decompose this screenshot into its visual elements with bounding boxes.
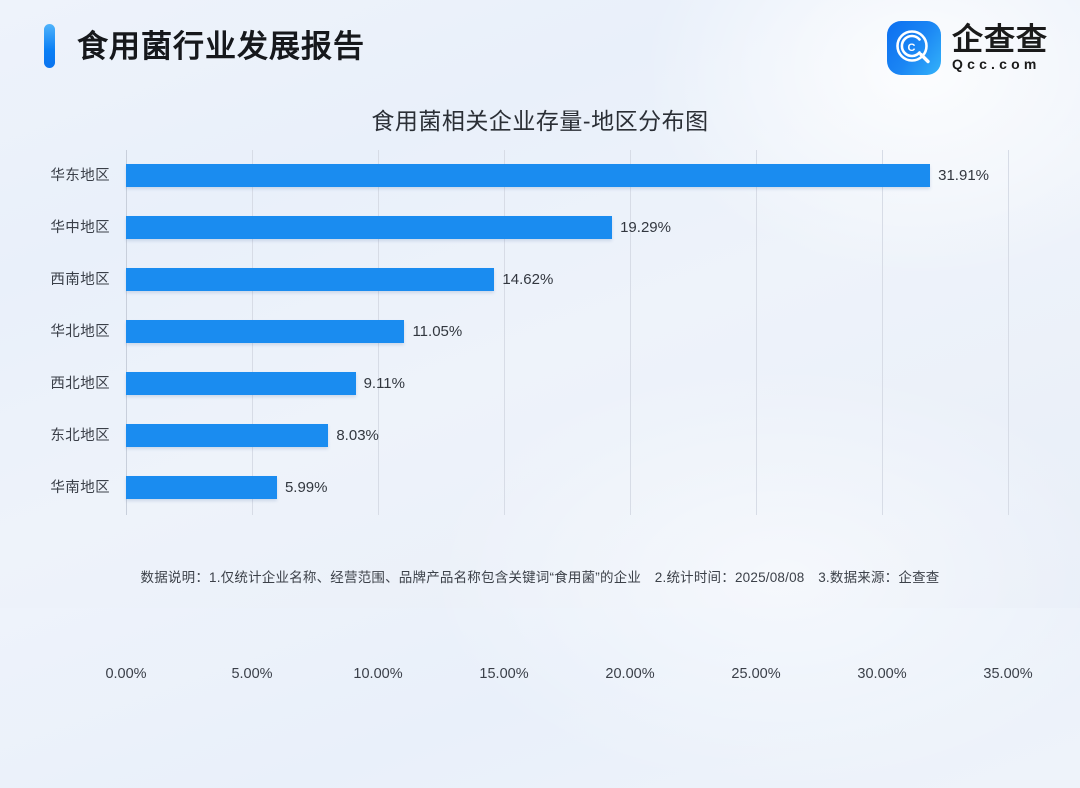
x-axis-tick-label: 35.00%: [983, 666, 1032, 682]
logo-chinese-name: 企查查: [952, 24, 1048, 57]
bar-value-label: 14.62%: [502, 268, 553, 291]
bar-category-label: 华中地区: [0, 215, 110, 241]
bar-category-label: 华东地区: [0, 163, 110, 189]
bar-value-label: 19.29%: [620, 216, 671, 239]
x-axis-tick-label: 30.00%: [857, 666, 906, 682]
bar-category-label: 西北地区: [0, 371, 110, 397]
x-axis-tick-label: 5.00%: [231, 666, 272, 682]
x-axis-tick-label: 10.00%: [353, 666, 402, 682]
brand-logo[interactable]: C 企查查 Qcc.com: [887, 21, 1048, 75]
report-title-block: 食用菌行业发展报告: [44, 24, 365, 68]
bar[interactable]: [126, 268, 494, 291]
chart-bar-row[interactable]: 东北地区8.03%: [0, 423, 1080, 449]
chart-bar-row[interactable]: 华北地区11.05%: [0, 319, 1080, 345]
bar-value-label: 8.03%: [336, 424, 379, 447]
footer-note: 数据说明：1.仅统计企业名称、经营范围、品牌产品名称包含关键词“食用菌”的企业 …: [0, 566, 1080, 586]
bar-value-label: 9.11%: [364, 372, 405, 395]
bar-value-label: 11.05%: [412, 320, 462, 343]
chart-bar-row[interactable]: 华东地区31.91%: [0, 163, 1080, 189]
x-axis: 0.00%5.00%10.00%15.00%20.00%25.00%30.00%…: [0, 666, 1080, 690]
bar-category-label: 华北地区: [0, 319, 110, 345]
logo-text-block: 企查查 Qcc.com: [952, 24, 1048, 73]
bar-category-label: 东北地区: [0, 423, 110, 449]
bar[interactable]: [126, 216, 612, 239]
chart-bar-row[interactable]: 西北地区9.11%: [0, 371, 1080, 397]
bar[interactable]: [126, 164, 930, 187]
bar-chart: 华东地区31.91%华中地区19.29%西南地区14.62%华北地区11.05%…: [0, 150, 1080, 540]
x-axis-tick-label: 25.00%: [731, 666, 780, 682]
bar[interactable]: [126, 424, 328, 447]
bar-value-label: 5.99%: [285, 476, 328, 499]
bar-value-label: 31.91%: [938, 164, 989, 187]
bar[interactable]: [126, 320, 404, 343]
x-axis-tick-label: 20.00%: [605, 666, 654, 682]
chart-title: 食用菌相关企业存量-地区分布图: [0, 102, 1080, 136]
chart-bar-row[interactable]: 西南地区14.62%: [0, 267, 1080, 293]
x-axis-tick-label: 0.00%: [105, 666, 146, 682]
bar-category-label: 西南地区: [0, 267, 110, 293]
title-accent-bar: [44, 24, 55, 68]
x-axis-tick-label: 15.00%: [479, 666, 528, 682]
qcc-logo-icon: C: [887, 21, 941, 75]
page-title: 食用菌行业发展报告: [77, 31, 365, 62]
svg-text:C: C: [908, 42, 916, 54]
bar-category-label: 华南地区: [0, 475, 110, 501]
page-header: 食用菌行业发展报告 C 企查查 Qcc.com: [0, 0, 1080, 92]
bar[interactable]: [126, 476, 277, 499]
logo-domain: Qcc.com: [952, 57, 1048, 72]
bar[interactable]: [126, 372, 356, 395]
chart-bar-row[interactable]: 华南地区5.99%: [0, 475, 1080, 501]
chart-bar-row[interactable]: 华中地区19.29%: [0, 215, 1080, 241]
